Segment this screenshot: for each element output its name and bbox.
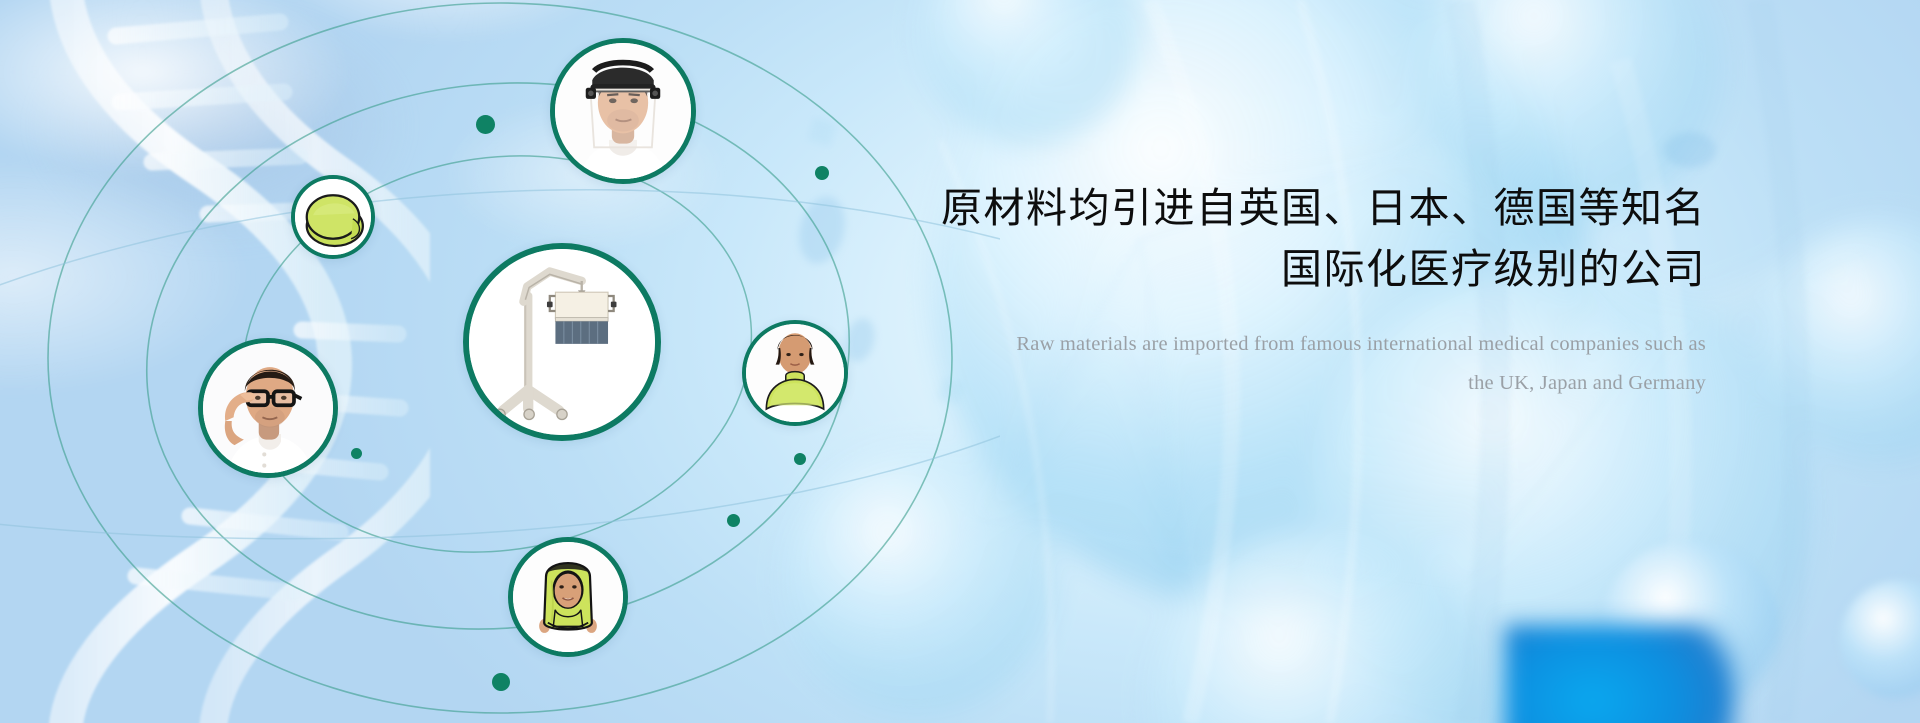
banner-stage: 原材料均引进自英国、日本、德国等知名 国际化医疗级别的公司 Raw materi… <box>0 0 1920 723</box>
headline-line-1: 原材料均引进自英国、日本、德国等知名 <box>941 185 1706 231</box>
lead-glasses-icon <box>203 343 333 473</box>
orbit-dot-mid <box>794 453 806 465</box>
orbit-node-lead-glasses[interactable] <box>198 338 338 478</box>
orbit-node-lead-cap[interactable] <box>291 175 375 259</box>
background-blue-blob <box>1505 625 1735 723</box>
lead-cap-icon <box>295 179 371 255</box>
headline-line-2: 国际化医疗级别的公司 <box>886 239 1706 300</box>
protective-hood-icon <box>513 542 623 652</box>
orbit-dot-lower <box>727 514 740 527</box>
subtitle-line-2: the UK, Japan and Germany <box>886 364 1706 403</box>
face-shield-visor-icon <box>555 43 691 179</box>
banner-subtitle: Raw materials are imported from famous i… <box>886 325 1706 403</box>
orbit-node-protective-hood[interactable] <box>508 537 628 657</box>
subtitle-line-1: Raw materials are imported from famous i… <box>1016 333 1706 355</box>
orbit-dot-bottom <box>492 673 510 691</box>
orbit-node-face-shield-visor[interactable] <box>550 38 696 184</box>
orbit-dot-top <box>476 115 495 134</box>
banner-headline: 原材料均引进自英国、日本、德国等知名 国际化医疗级别的公司 <box>886 178 1706 299</box>
banner-copy: 原材料均引进自英国、日本、德国等知名 国际化医疗级别的公司 Raw materi… <box>886 178 1706 403</box>
thyroid-collar-icon <box>746 324 844 422</box>
orbit-node-thyroid-collar[interactable] <box>742 320 848 426</box>
orbit-node-mobile-xray-barrier[interactable] <box>463 243 661 441</box>
orbit-dot-right <box>815 166 829 180</box>
mobile-xray-barrier-icon <box>469 249 655 435</box>
orbit-dot-left <box>351 448 362 459</box>
